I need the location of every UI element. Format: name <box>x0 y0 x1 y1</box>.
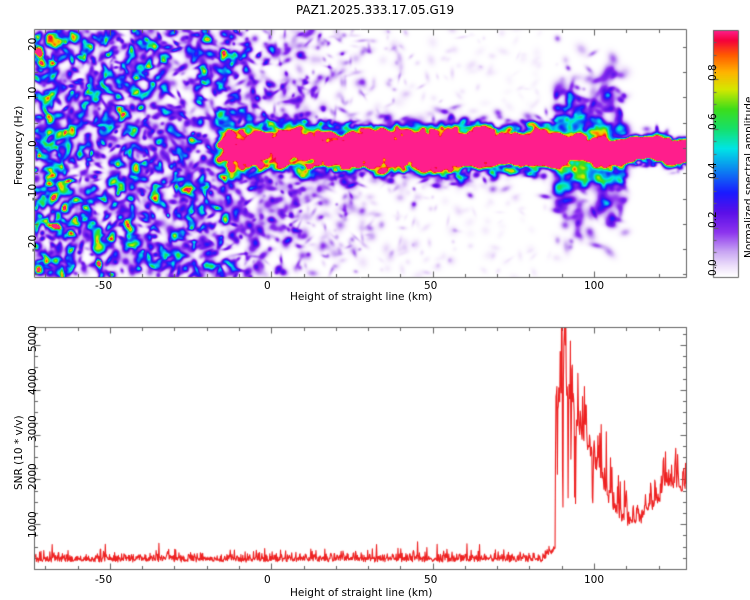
colorbar-label: Normalized spectral amplitude <box>744 97 750 258</box>
spectrogram-xtick-50: 50 <box>424 281 437 292</box>
colorbar-tick-0.8: 0.8 <box>708 64 719 81</box>
spectrogram-ytick-0: 0 <box>28 140 39 147</box>
snr-ytick-1000: 1000 <box>28 511 39 538</box>
snr-xtick-100: 100 <box>584 575 604 586</box>
snr-ytick-2000: 2000 <box>28 463 39 490</box>
snr-ytick-5000: 5000 <box>28 325 39 352</box>
colorbar-tick-0.2: 0.2 <box>708 211 719 228</box>
snr-xtick-50: 50 <box>424 575 437 586</box>
colorbar-tick-0.6: 0.6 <box>708 113 719 130</box>
spectrogram-ytick--10: -10 <box>28 184 39 201</box>
spectrogram-y-axis-label: Frequency (Hz) <box>14 106 25 185</box>
snr-y-axis-label: SNR (10 * v/v) <box>14 415 25 490</box>
spectrogram-xtick--50: -50 <box>95 281 112 292</box>
colorbar-tick-0.0: 0.0 <box>708 259 719 276</box>
figure-title: PAZ1.2025.333.17.05.G19 <box>0 4 750 16</box>
snr-ytick-4000: 4000 <box>28 368 39 395</box>
snr-xtick-0: 0 <box>264 575 271 586</box>
spectrogram-xtick-100: 100 <box>584 281 604 292</box>
spectrogram-xtick-0: 0 <box>264 281 271 292</box>
snr-xtick--50: -50 <box>95 575 112 586</box>
spectrogram-ytick-20: 20 <box>28 38 39 51</box>
colorbar-tick-0.4: 0.4 <box>708 162 719 179</box>
snr-x-axis-label: Height of straight line (km) <box>290 588 432 599</box>
spectrogram-x-axis-label: Height of straight line (km) <box>290 292 432 303</box>
snr-ytick-3000: 3000 <box>28 415 39 442</box>
scientific-figure: PAZ1.2025.333.17.05.G19 Frequency (Hz) H… <box>0 0 750 600</box>
spectrogram-ytick-10: 10 <box>28 87 39 100</box>
spectrogram-ytick--20: -20 <box>28 235 39 252</box>
